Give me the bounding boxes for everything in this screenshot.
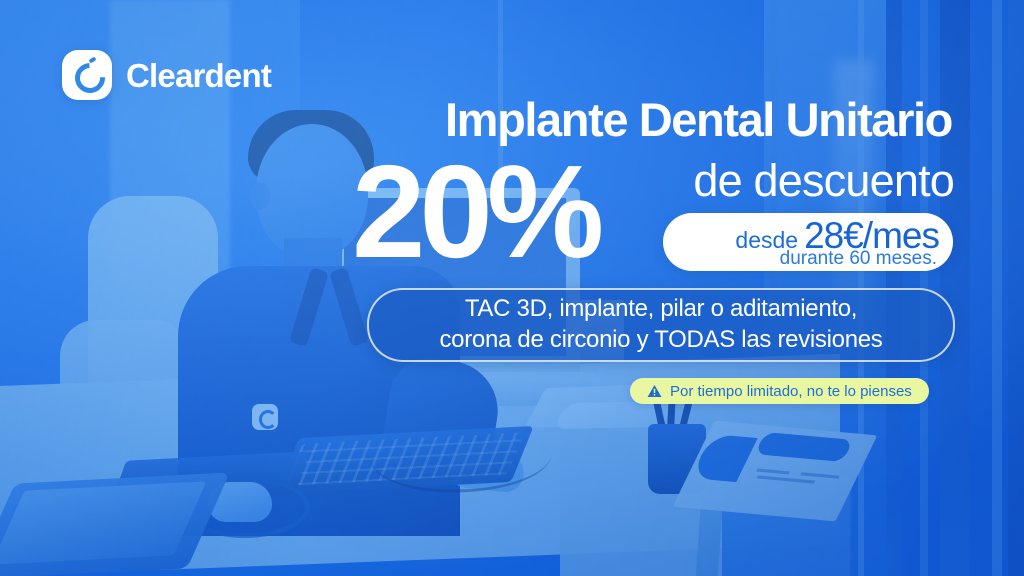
ad-content-layer: Cleardent Implante Dental Unitario 20% d… (0, 0, 1024, 576)
limited-time-badge: Por tiempo limitado, no te lo pienses (630, 378, 929, 404)
includes-line-2: corona de circonio y TODAS las revisione… (439, 325, 882, 356)
discount-percent-value: 20% (352, 146, 598, 278)
price-term: durante 60 meses. (780, 249, 937, 268)
brand-name-text: Cleardent (126, 59, 271, 92)
limited-time-text: Por tiempo limitado, no te lo pienses (670, 384, 912, 399)
price-pill: desde 28€/mes durante 60 meses. (663, 213, 953, 271)
warning-triangle-icon (647, 384, 662, 398)
includes-line-1: TAC 3D, implante, pilar o aditamiento, (465, 294, 857, 325)
advertisement-banner: Cleardent Implante Dental Unitario 20% d… (0, 0, 1024, 576)
cleardent-c-mark-icon (62, 50, 112, 100)
headline-block: Implante Dental Unitario (445, 96, 952, 144)
discount-label: de descuento (693, 158, 954, 203)
includes-pill: TAC 3D, implante, pilar o aditamiento, c… (367, 288, 955, 362)
brand-logo[interactable]: Cleardent (62, 50, 271, 100)
page-title: Implante Dental Unitario (445, 96, 952, 144)
